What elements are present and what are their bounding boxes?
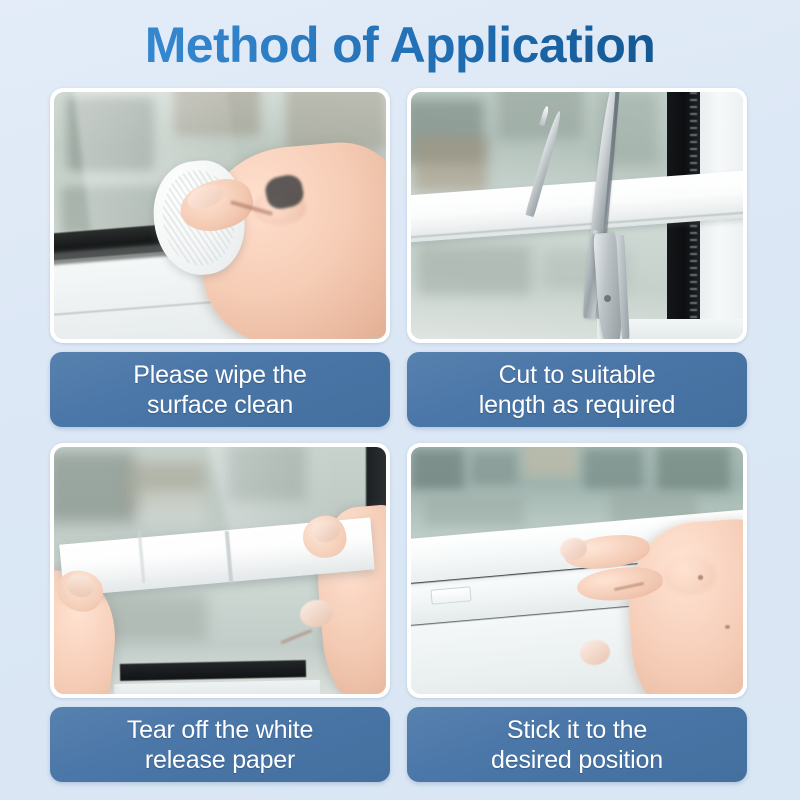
glass-reflection: [140, 491, 206, 526]
step-4-caption: Stick it to thedesired position: [407, 707, 747, 782]
glass-reflection: [497, 92, 583, 139]
step-1-caption-line2: surface clean: [125, 390, 315, 420]
step-4-photo: [411, 447, 743, 694]
glass-reflection: [524, 447, 577, 477]
scissors-handle-hole: [604, 295, 611, 302]
step-1-caption-text: Please wipe thesurface clean: [117, 360, 323, 420]
step-2-photo-frame: [407, 88, 747, 343]
step-card-4: Stick it to thedesired position: [407, 443, 750, 798]
step-3-caption-text: Tear off the whiterelease paper: [111, 715, 329, 775]
glass-reflection: [414, 136, 487, 190]
step-3-photo-frame: [50, 443, 390, 698]
step-card-3: Tear off the whiterelease paper: [50, 443, 393, 798]
step-2-caption-text: Cut to suitablelength as required: [463, 360, 692, 420]
glass-reflection: [657, 447, 730, 491]
step-3-caption-line2: release paper: [119, 745, 321, 775]
steps-grid: Please wipe thesurface clean: [50, 88, 750, 798]
step-1-caption-line1: Please wipe the: [125, 360, 315, 390]
glass-reflection: [471, 452, 517, 484]
step-card-1: Please wipe thesurface clean: [50, 88, 393, 443]
step-2-caption: Cut to suitablelength as required: [407, 352, 747, 427]
step-3-caption-line1: Tear off the white: [119, 715, 321, 745]
glass-reflection: [54, 452, 134, 521]
page-title: Method of Application: [0, 14, 800, 76]
glass-reflection: [418, 245, 531, 294]
step-2-caption-line2: length as required: [471, 390, 684, 420]
step-3-caption: Tear off the whiterelease paper: [50, 707, 390, 782]
step-4-caption-line2: desired position: [483, 745, 671, 775]
glass-reflection: [107, 595, 207, 639]
step-1-photo: [54, 92, 386, 339]
step-4-caption-line1: Stick it to the: [483, 715, 671, 745]
skin-mark: [698, 575, 703, 579]
frame-notch: [430, 586, 471, 604]
glass-reflection: [584, 449, 644, 489]
step-card-2: Cut to suitablelength as required: [407, 88, 750, 443]
step-1-photo-frame: [50, 88, 390, 343]
step-2-photo: [411, 92, 743, 339]
skin-mark: [725, 625, 730, 629]
step-2-caption-line1: Cut to suitable: [471, 360, 684, 390]
step-3-photo: [54, 447, 386, 694]
step-4-caption-text: Stick it to thedesired position: [475, 715, 679, 775]
glass-reflection: [424, 496, 524, 526]
glass-reflection: [411, 449, 464, 489]
step-4-photo-frame: [407, 443, 747, 698]
step-1-caption: Please wipe thesurface clean: [50, 352, 390, 427]
